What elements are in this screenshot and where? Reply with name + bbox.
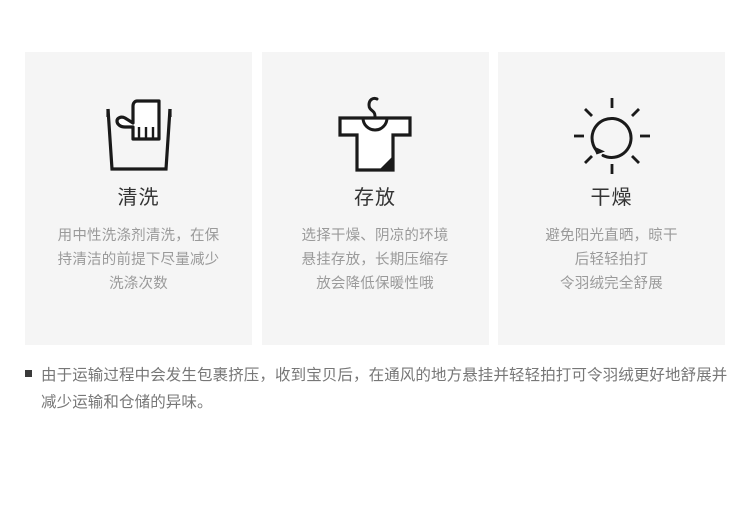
card-title: 干燥	[591, 186, 633, 210]
care-instructions-page: 清洗 用中性洗涤剂清洗，在保 持清洁的前提下尽量减少 洗涤次数 存放 选择干燥、…	[0, 0, 750, 510]
card-description: 避免阳光直晒，晾干 后轻轻拍打 令羽绒完全舒展	[514, 224, 710, 296]
card-description: 选择干燥、阴凉的环境 悬挂存放，长期压缩存 放会降低保暖性哦	[277, 224, 473, 296]
care-card-wash: 清洗 用中性洗涤剂清洗，在保 持清洁的前提下尽量减少 洗涤次数	[25, 52, 252, 345]
square-bullet-icon	[25, 370, 32, 377]
card-description: 用中性洗涤剂清洗，在保 持清洁的前提下尽量减少 洗涤次数	[41, 224, 237, 296]
care-card-dry: 干燥 避免阳光直晒，晾干 后轻轻拍打 令羽绒完全舒展	[498, 52, 725, 345]
care-cards-row: 清洗 用中性洗涤剂清洗，在保 持清洁的前提下尽量减少 洗涤次数 存放 选择干燥、…	[25, 52, 725, 345]
shirt-hanger-icon	[334, 90, 416, 182]
wash-basin-hand-icon	[103, 90, 175, 182]
care-card-storage: 存放 选择干燥、阴凉的环境 悬挂存放，长期压缩存 放会降低保暖性哦	[262, 52, 489, 345]
sun-dry-icon	[571, 90, 653, 182]
footer-note-text: 由于运输过程中会发生包裹挤压，收到宝贝后，在通风的地方悬挂并轻轻拍打可令羽绒更好…	[41, 362, 731, 416]
footer-note: 由于运输过程中会发生包裹挤压，收到宝贝后，在通风的地方悬挂并轻轻拍打可令羽绒更好…	[25, 362, 733, 416]
card-title: 存放	[354, 186, 396, 210]
card-title: 清洗	[118, 186, 160, 210]
